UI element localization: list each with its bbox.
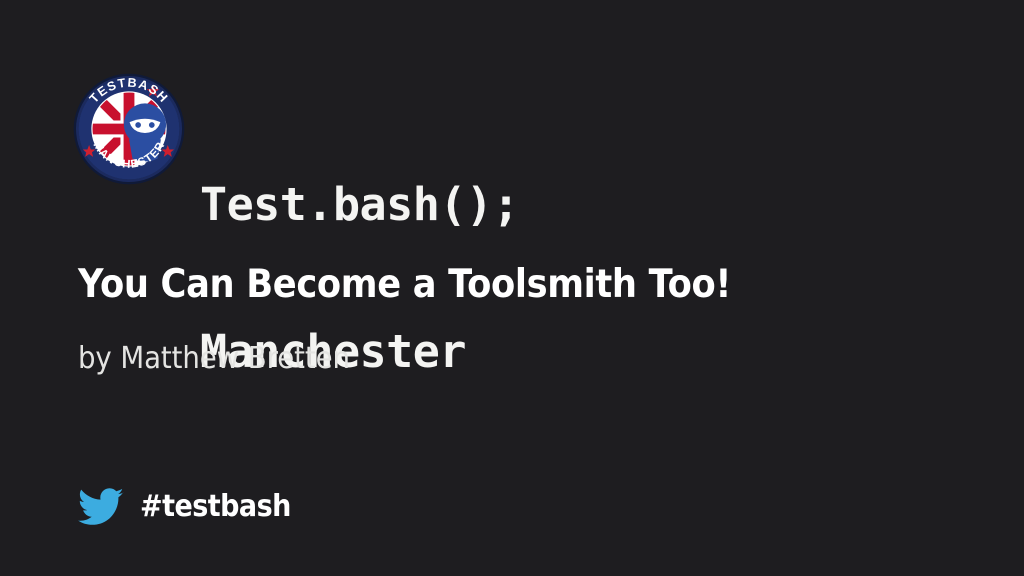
wordmark-line-1: Test.bash(); [200,180,519,229]
testbash-manchester-logo: TESTBASH MANCHESTER [72,72,186,186]
presentation-title-slide: TESTBASH MANCHESTER Test.bash(); Manches… [0,0,1024,576]
title-block: You Can Become a Toolsmith Too! by Matth… [78,262,938,378]
talk-title: You Can Become a Toolsmith Too! [78,262,856,308]
twitter-hashtag-footer: #testbash [78,487,308,527]
twitter-bird-icon [78,487,124,527]
hashtag-label: #testbash [140,491,291,523]
talk-byline: by Matthew Bretten [78,340,869,378]
